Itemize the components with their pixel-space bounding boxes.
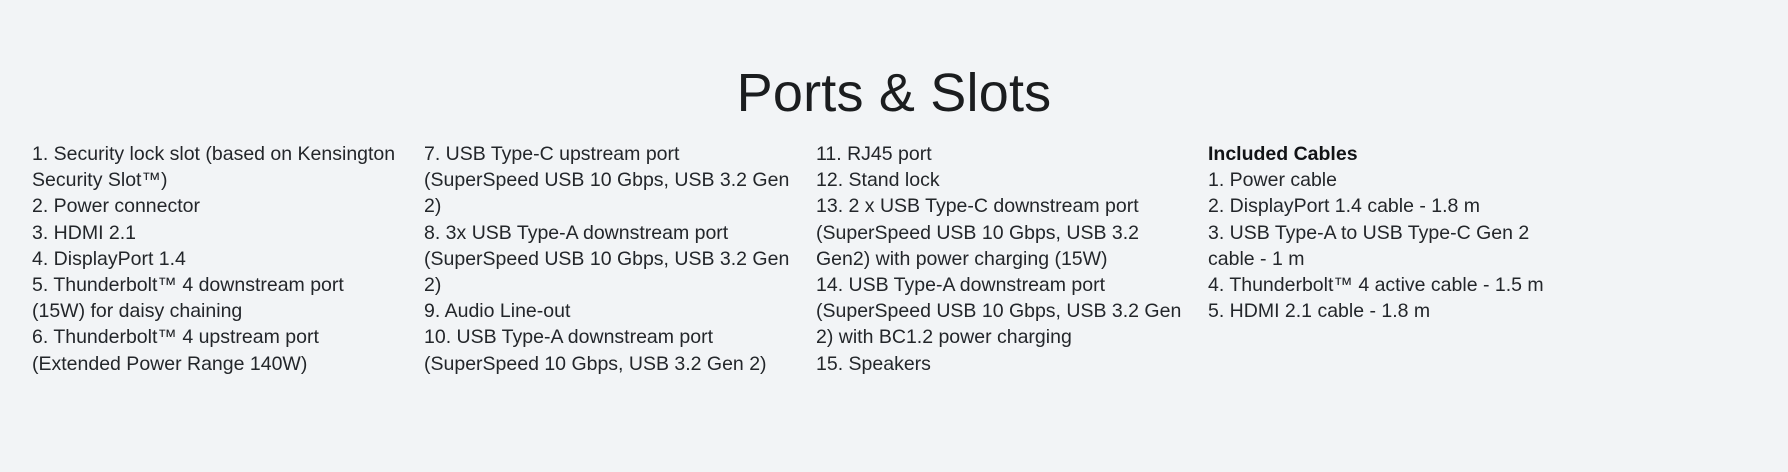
list-item: 4. DisplayPort 1.4 (32, 246, 398, 272)
list-item: 9. Audio Line-out (424, 298, 790, 324)
list-item: 15. Speakers (816, 351, 1182, 377)
list-item: 1. Power cable (1208, 167, 1578, 193)
included-cables-column: Included Cables1. Power cable2. DisplayP… (1208, 141, 1578, 324)
ports-column-1: 1. Security lock slot (based on Kensingt… (32, 141, 424, 377)
list-item: 12. Stand lock (816, 167, 1182, 193)
list-item: 3. USB Type-A to USB Type-C Gen 2 cable … (1208, 220, 1578, 272)
list-item: 8. 3x USB Type-A downstream port (SuperS… (424, 220, 790, 299)
list-item: 2. DisplayPort 1.4 cable - 1.8 m (1208, 193, 1578, 219)
list-item: 3. HDMI 2.1 (32, 220, 398, 246)
list-item: 7. USB Type-C upstream port (SuperSpeed … (424, 141, 790, 220)
list-item: 13. 2 x USB Type-C downstream port (Supe… (816, 193, 1182, 272)
column-heading: Included Cables (1208, 141, 1578, 167)
list-item: 5. HDMI 2.1 cable - 1.8 m (1208, 298, 1578, 324)
list-item: 10. USB Type-A downstream port (SuperSpe… (424, 324, 790, 376)
list-item: 5. Thunderbolt™ 4 downstream port (15W) … (32, 272, 398, 324)
list-item: 4. Thunderbolt™ 4 active cable - 1.5 m (1208, 272, 1578, 298)
ports-and-slots-page: Ports & Slots 1. Security lock slot (bas… (0, 0, 1788, 472)
list-item: 6. Thunderbolt™ 4 upstream port (Extende… (32, 324, 398, 376)
ports-column-3: 11. RJ45 port12. Stand lock13. 2 x USB T… (816, 141, 1208, 377)
specs-columns: 1. Security lock slot (based on Kensingt… (32, 141, 1772, 377)
list-item: 14. USB Type-A downstream port (SuperSpe… (816, 272, 1182, 351)
list-item: 1. Security lock slot (based on Kensingt… (32, 141, 398, 193)
page-title: Ports & Slots (0, 60, 1788, 128)
list-item: 2. Power connector (32, 193, 398, 219)
list-item: 11. RJ45 port (816, 141, 1182, 167)
ports-column-2: 7. USB Type-C upstream port (SuperSpeed … (424, 141, 816, 377)
